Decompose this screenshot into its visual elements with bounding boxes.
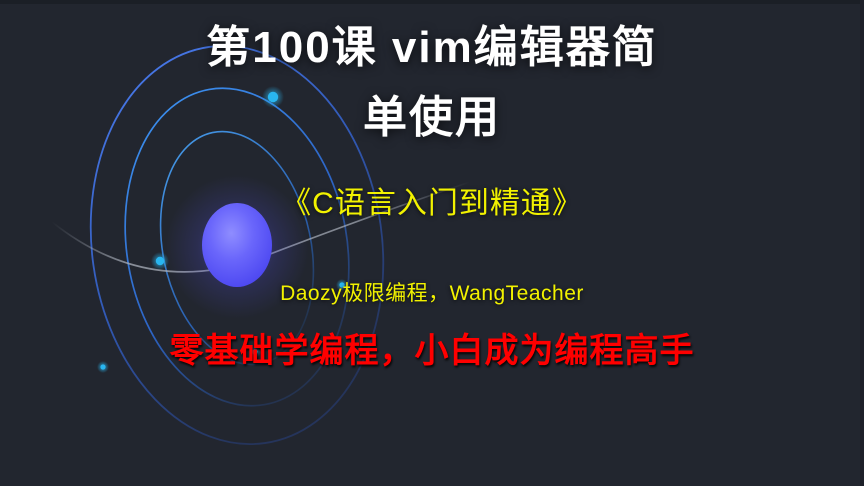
- author-credit: Daozy极限编程，WangTeacher: [0, 277, 864, 307]
- page-title-line-2: 单使用: [0, 96, 864, 141]
- page-title-line-1: 第100课 vim编辑器简: [0, 26, 864, 71]
- promo-tagline: 零基础学编程，小白成为编程高手: [0, 323, 864, 372]
- right-edge-band: [860, 0, 864, 486]
- video-thumbnail-slide: 第100课 vim编辑器简 单使用 《C语言入门到精通》 Daozy极限编程，W…: [0, 0, 864, 486]
- text-content-layer: 第100课 vim编辑器简 单使用 《C语言入门到精通》 Daozy极限编程，W…: [0, 0, 864, 486]
- top-edge-band: [0, 0, 864, 4]
- course-subtitle: 《C语言入门到精通》: [0, 178, 864, 222]
